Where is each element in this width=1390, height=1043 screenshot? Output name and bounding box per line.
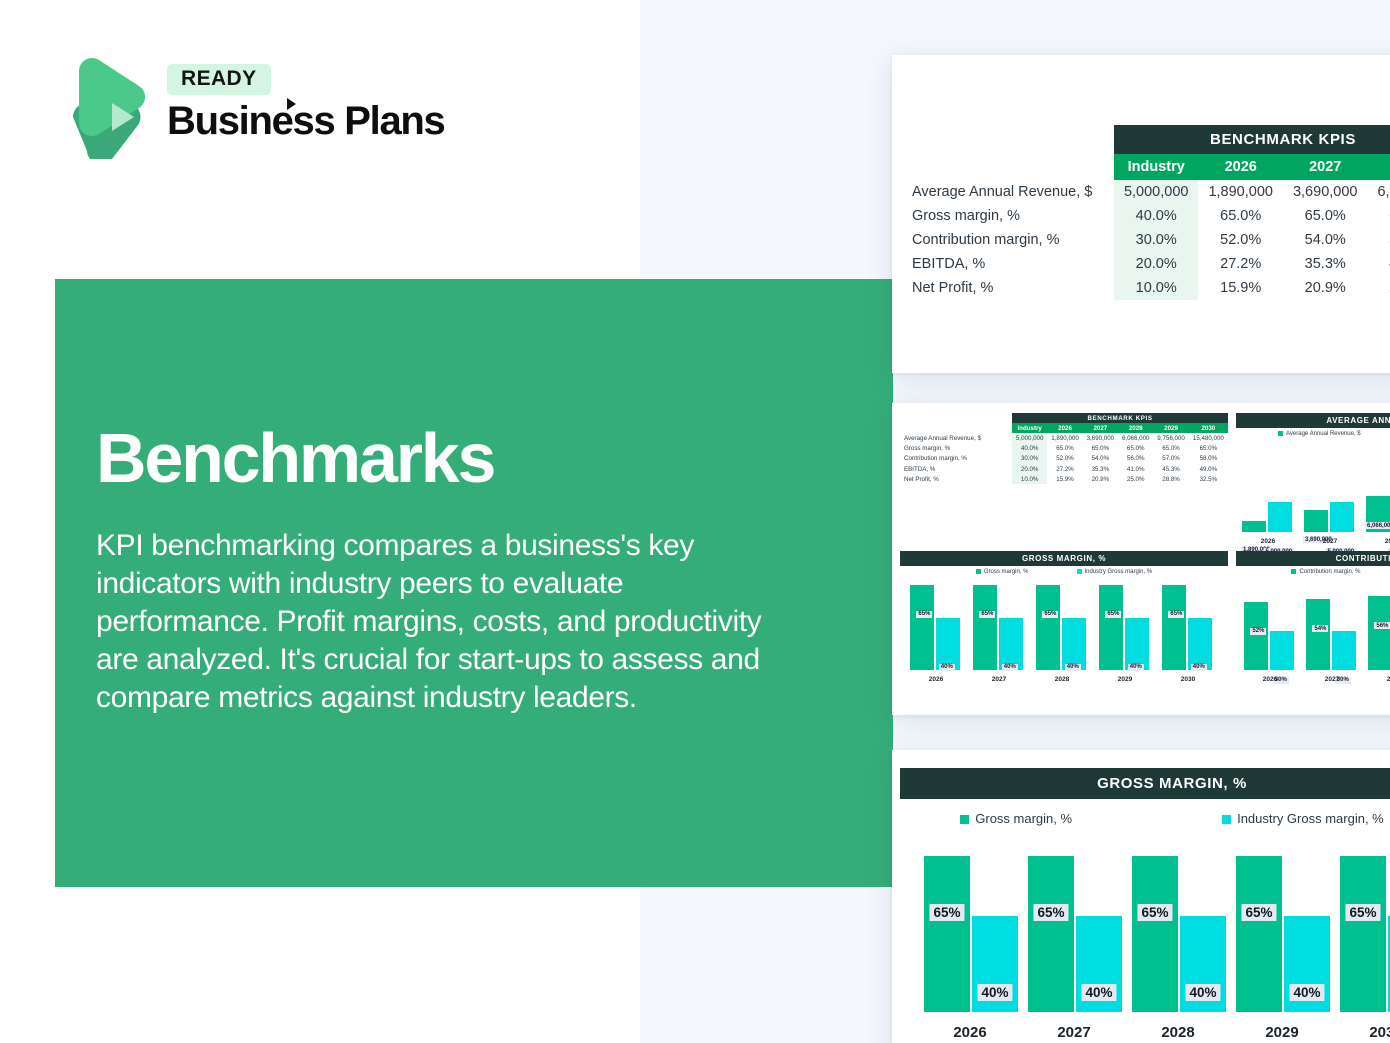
bar-company-2026: 65% <box>910 585 934 670</box>
mini-revenue-legend: Average Annual Revenue, $ Industry Avera… <box>1236 428 1390 438</box>
x-axis-label-2030: 2030 <box>1160 676 1216 683</box>
x-axis-label-2026: 2026 <box>908 676 964 683</box>
bar-value-label: 65% <box>1105 611 1121 618</box>
x-axis-label-2029: 2029 <box>1097 676 1153 683</box>
mini-benchmark-kpis-table: BENCHMARK KPIS Industry20262027202820292… <box>900 413 1228 484</box>
x-axis-label-2028: 2028 <box>1128 1024 1228 1041</box>
column-header-2027: 2027 <box>1083 423 1118 433</box>
bar-company-2028: 56% <box>1368 596 1390 670</box>
gross-margin-plot: 65%40%202665%40%202765%40%202865%40%2029… <box>906 844 1390 1043</box>
row-label: Average Annual Revenue, $ <box>900 180 1114 204</box>
bar-industry-2026: 30% <box>1270 631 1294 670</box>
table-cell: 5,000,000 <box>1114 180 1199 204</box>
table-cell: 65.0% <box>1283 204 1368 228</box>
column-header-industry: Industry <box>1012 423 1047 433</box>
bar-company-2028: 65% <box>1036 585 1060 670</box>
table-cell: 54.0% <box>1083 454 1118 464</box>
chart-group-2027: 65%40%2027 <box>971 578 1027 670</box>
bar-industry-2027: 40% <box>1076 916 1122 1012</box>
table-cell: 27.2% <box>1198 252 1283 276</box>
table-cell: 65.0% <box>1367 204 1390 228</box>
table-cell: 65.0% <box>1118 444 1153 454</box>
chart-group-2028: 6,066,0005,000,0002028 <box>1364 440 1390 532</box>
bar-value-label: 65% <box>929 904 964 921</box>
mini-gross-margin-chart: GROSS MARGIN, % Gross margin, % Industry… <box>900 551 1228 684</box>
mini-table-body: Average Annual Revenue, $5,000,0001,890,… <box>900 433 1228 484</box>
chart-group-2028: 65%40%2028 <box>1034 578 1090 670</box>
mini-header-spacer <box>900 423 1012 433</box>
bar-industry-2027: 40% <box>999 618 1023 671</box>
table-cell: 15.9% <box>1047 474 1082 484</box>
brand-name-text: Business Plans <box>167 99 444 143</box>
legend-entry-industry: Industry Gross margin, % <box>1077 569 1153 575</box>
bar-value-label: 40% <box>1289 984 1324 1001</box>
x-axis-label-2026: 2026 <box>1240 538 1296 545</box>
bar-company-2028: 6,066,000 <box>1366 496 1390 532</box>
bar-value-label: 65% <box>979 611 995 618</box>
table-cell: 1,890,000 <box>1047 433 1082 443</box>
table-cell: 9,756,000 <box>1153 433 1188 443</box>
bar-industry-2026: 5,000,000 <box>1268 502 1292 532</box>
table-cell: 30.0% <box>1114 228 1199 252</box>
table-row: Contribution margin, %30.0%52.0%54.0%56.… <box>900 228 1390 252</box>
bar-company-2027: 65% <box>1028 856 1074 1012</box>
chart-group-2027: 65%40%2027 <box>1024 844 1124 1043</box>
chart-group-2030: 65%40%2030 <box>1160 578 1216 670</box>
bar-industry-2029: 40% <box>1125 618 1149 671</box>
x-axis-label-2030: 2030 <box>1336 1024 1390 1041</box>
table-cell: 56.0% <box>1367 228 1390 252</box>
bar-value-label: 65% <box>1137 904 1172 921</box>
bar-industry-2026: 40% <box>972 916 1018 1012</box>
bar-value-label: 6,066,000 <box>1365 522 1390 529</box>
table-cell: 45.3% <box>1153 464 1188 474</box>
mini-revenue-plot: 1,890,0005,000,00020263,690,0005,000,000… <box>1236 438 1390 546</box>
bar-value-label: 65% <box>916 611 932 618</box>
mini-table-header-row: Industry20262027202820292030 <box>900 423 1228 433</box>
table-row: Average Annual Revenue, $5,000,0001,890,… <box>900 433 1228 443</box>
table-cell: 15,480,000 <box>1189 433 1228 443</box>
brand-name: Business Plans <box>167 100 444 142</box>
table-cell: 40.0% <box>1012 444 1047 454</box>
chart-group-2029: 65%40%2029 <box>1097 578 1153 670</box>
table-cell: 20.0% <box>1012 464 1047 474</box>
table-header-row: Industry202620272028 <box>900 154 1390 180</box>
table-cell: 3,690,000 <box>1283 180 1368 204</box>
legend-entry-company: Average Annual Revenue, $ <box>1278 431 1361 437</box>
table-row: Average Annual Revenue, $5,000,0001,890,… <box>900 180 1390 204</box>
x-axis-label-2027: 2027 <box>1302 538 1358 545</box>
mini-title-spacer <box>900 413 1012 423</box>
table-cell: 57.0% <box>1153 454 1188 464</box>
row-label: Gross margin, % <box>900 444 1012 454</box>
bar-value-label: 40% <box>939 664 955 671</box>
kpi-table-card: BENCHMARK KPIS Industry202620272028 Aver… <box>892 55 1390 373</box>
table-cell: 10.0% <box>1012 474 1047 484</box>
bar-company-2030: 65% <box>1162 585 1186 670</box>
bar-value-label: 40% <box>1185 984 1220 1001</box>
mini-table-title-row: BENCHMARK KPIS <box>900 413 1228 423</box>
bar-industry-2029: 40% <box>1284 916 1330 1012</box>
table-cell: 56.0% <box>1118 454 1153 464</box>
table-row: Gross margin, %40.0%65.0%65.0%65.0% <box>900 204 1390 228</box>
mini-dashboard-card: BENCHMARK KPIS Industry20262027202820292… <box>892 403 1390 715</box>
chart-group-2026: 52%30%2026 <box>1242 578 1298 670</box>
x-axis-label-2028: 2028 <box>1366 676 1390 683</box>
column-header-industry: Industry <box>1114 154 1199 180</box>
header-spacer <box>900 154 1114 180</box>
bar-industry-2027: 5,000,000 <box>1330 502 1354 532</box>
mini-gross-margin-legend: Gross margin, % Industry Gross margin, % <box>900 566 1228 576</box>
hero-panel: Benchmarks KPI benchmarking compares a b… <box>55 279 893 887</box>
small-play-icon <box>287 98 296 110</box>
chart-group-2026: 65%40%2026 <box>908 578 964 670</box>
table-title: BENCHMARK KPIS <box>1114 125 1390 154</box>
bar-company-2028: 65% <box>1132 856 1178 1012</box>
row-label: Contribution margin, % <box>900 454 1012 464</box>
table-cell: 49.0% <box>1189 464 1228 474</box>
x-axis-label-2027: 2027 <box>971 676 1027 683</box>
bar-company-2026: 52% <box>1244 602 1268 670</box>
chart-group-2028: 56%30%2028 <box>1366 578 1390 670</box>
legend-entry-industry: Industry Gross margin, % <box>1222 811 1384 826</box>
chart-group-2029: 65%40%2029 <box>1232 844 1332 1043</box>
x-axis-label-2026: 2026 <box>1242 676 1298 683</box>
table-cell: 20.0% <box>1114 252 1199 276</box>
mini-gross-margin-plot: 65%40%202665%40%202765%40%202865%40%2029… <box>900 576 1228 684</box>
table-cell: 41.0% <box>1118 464 1153 474</box>
column-header-2028: 2028 <box>1118 423 1153 433</box>
table-cell: 41.0% <box>1367 252 1390 276</box>
chart-group-2027: 54%30%2027 <box>1304 578 1360 670</box>
bar-value-label: 65% <box>1168 611 1184 618</box>
table-cell: 1,890,000 <box>1198 180 1283 204</box>
row-label: EBITDA, % <box>900 464 1012 474</box>
table-cell: 27.2% <box>1047 464 1082 474</box>
bar-value-label: 40% <box>977 984 1012 1001</box>
bar-industry-2030: 40% <box>1188 618 1212 671</box>
table-cell: 65.0% <box>1153 444 1188 454</box>
gross-margin-chart-title: GROSS MARGIN, % <box>900 768 1390 799</box>
x-axis-label-2026: 2026 <box>920 1024 1020 1041</box>
bar-company-2030: 65% <box>1340 856 1386 1012</box>
x-axis-label-2028: 2028 <box>1034 676 1090 683</box>
bar-value-label: 56% <box>1374 622 1390 629</box>
row-label: Net Profit, % <box>900 474 1012 484</box>
slide-canvas: READY Business Plans Benchmarks KPI benc… <box>0 0 1390 1043</box>
brand-logo[interactable]: READY Business Plans <box>55 52 455 162</box>
benchmark-kpis-table: BENCHMARK KPIS Industry202620272028 Aver… <box>900 125 1390 300</box>
mini-revenue-chart-title: AVERAGE ANNUAL REVENUE, $ <box>1236 413 1390 428</box>
table-cell: 25.0% <box>1118 474 1153 484</box>
table-cell: 65.0% <box>1189 444 1228 454</box>
bar-value-label: 65% <box>1033 904 1068 921</box>
x-axis-label-2028: 2028 <box>1364 538 1390 545</box>
chart-group-2027: 3,690,0005,000,0002027 <box>1302 440 1358 532</box>
mini-contribution-legend: Contribution margin, % Industry Contribu… <box>1236 566 1390 576</box>
table-cell: 52.0% <box>1047 454 1082 464</box>
table-row: Net Profit, %10.0%15.9%20.9%25.0% <box>900 276 1390 300</box>
chart-group-2028: 65%40%2028 <box>1128 844 1228 1043</box>
table-cell: 35.3% <box>1083 464 1118 474</box>
table-cell: 65.0% <box>1083 444 1118 454</box>
gross-margin-legend: Gross margin, % Industry Gross margin, % <box>892 799 1390 826</box>
bar-industry-2027: 30% <box>1332 631 1356 670</box>
x-axis-label-2029: 2029 <box>1232 1024 1332 1041</box>
table-cell: 40.0% <box>1114 204 1199 228</box>
x-axis-label-2027: 2027 <box>1024 1024 1124 1041</box>
table-cell: 65.0% <box>1198 204 1283 228</box>
bar-value-label: 52% <box>1250 628 1266 635</box>
row-label: Gross margin, % <box>900 204 1114 228</box>
row-label: EBITDA, % <box>900 252 1114 276</box>
table-cell: 28.8% <box>1153 474 1188 484</box>
table-cell: 52.0% <box>1198 228 1283 252</box>
table-cell: 5,000,000 <box>1012 433 1047 443</box>
hero-description: KPI benchmarking compares a business's k… <box>96 527 766 717</box>
bar-value-label: 54% <box>1312 625 1328 632</box>
table-row: EBITDA, %20.0%27.2%35.3%41.0% <box>900 252 1390 276</box>
mini-contribution-margin-chart: CONTRIBUTION MARGIN, % Contribution marg… <box>1236 551 1390 684</box>
mini-contribution-title: CONTRIBUTION MARGIN, % <box>1236 551 1390 566</box>
bar-company-2027: 54% <box>1306 599 1330 670</box>
chart-group-2026: 65%40%2026 <box>920 844 1020 1043</box>
table-cell: 35.3% <box>1283 252 1368 276</box>
table-cell: 54.0% <box>1283 228 1368 252</box>
table-cell: 20.9% <box>1083 474 1118 484</box>
bar-value-label: 40% <box>1081 984 1116 1001</box>
bar-value-label: 40% <box>1002 664 1018 671</box>
bar-company-2027: 65% <box>973 585 997 670</box>
play-triangle-logo-icon <box>55 55 151 159</box>
bar-industry-2028: 40% <box>1180 916 1226 1012</box>
table-row: Contribution margin, %30.0%52.0%54.0%56.… <box>900 454 1228 464</box>
table-cell: 20.9% <box>1283 276 1368 300</box>
bar-industry-2028: 40% <box>1062 618 1086 671</box>
legend-entry-company: Gross margin, % <box>976 569 1029 575</box>
legend-entry-company: Contribution margin, % <box>1291 569 1360 575</box>
column-header-2027: 2027 <box>1283 154 1368 180</box>
chart-group-2026: 1,890,0005,000,0002026 <box>1240 440 1296 532</box>
column-header-2030: 2030 <box>1189 423 1228 433</box>
page-title: Benchmarks <box>96 423 494 493</box>
bar-value-label: 65% <box>1042 611 1058 618</box>
table-row: Net Profit, %10.0%15.9%20.9%25.0%28.8%32… <box>900 474 1228 484</box>
bar-company-2027: 3,690,000 <box>1304 510 1328 532</box>
bar-value-label: 40% <box>1128 664 1144 671</box>
bar-company-2029: 65% <box>1236 856 1282 1012</box>
table-row: Gross margin, %40.0%65.0%65.0%65.0%65.0%… <box>900 444 1228 454</box>
column-header-2026: 2026 <box>1198 154 1283 180</box>
x-axis-label-2027: 2027 <box>1304 676 1360 683</box>
bar-company-2026: 1,890,000 <box>1242 521 1266 532</box>
table-cell: 25.0% <box>1367 276 1390 300</box>
table-cell: 6,066,000 <box>1118 433 1153 443</box>
column-header-2026: 2026 <box>1047 423 1082 433</box>
bar-value-label: 65% <box>1345 904 1380 921</box>
table-cell: 10.0% <box>1114 276 1199 300</box>
mini-revenue-chart: AVERAGE ANNUAL REVENUE, $ Average Annual… <box>1236 413 1390 546</box>
mini-table-title: BENCHMARK KPIS <box>1012 413 1228 423</box>
mini-gross-margin-title: GROSS MARGIN, % <box>900 551 1228 566</box>
table-cell: 15.9% <box>1198 276 1283 300</box>
bar-value-label: 40% <box>1191 664 1207 671</box>
table-cell: 30.0% <box>1012 454 1047 464</box>
table-title-row: BENCHMARK KPIS <box>900 125 1390 154</box>
column-header-2028: 2028 <box>1367 154 1390 180</box>
table-cell: 3,690,000 <box>1083 433 1118 443</box>
table-title-spacer <box>900 125 1114 154</box>
table-cell: 6,066,000 <box>1367 180 1390 204</box>
row-label: Average Annual Revenue, $ <box>900 433 1012 443</box>
brand-wordmark: READY Business Plans <box>167 64 444 142</box>
legend-entry-company: Gross margin, % <box>960 811 1072 826</box>
row-label: Net Profit, % <box>900 276 1114 300</box>
table-body: Average Annual Revenue, $5,000,0001,890,… <box>900 180 1390 300</box>
column-header-2029: 2029 <box>1153 423 1188 433</box>
bar-value-label: 40% <box>1065 664 1081 671</box>
bar-company-2026: 65% <box>924 856 970 1012</box>
ready-badge: READY <box>167 64 271 95</box>
mini-contribution-plot: 52%30%202654%30%202756%30%202857%30%2029… <box>1236 576 1390 684</box>
table-row: EBITDA, %20.0%27.2%35.3%41.0%45.3%49.0% <box>900 464 1228 474</box>
bar-industry-2026: 40% <box>936 618 960 671</box>
bar-company-2029: 65% <box>1099 585 1123 670</box>
table-cell: 65.0% <box>1047 444 1082 454</box>
bar-value-label: 65% <box>1241 904 1276 921</box>
gross-margin-chart-card: GROSS MARGIN, % Gross margin, % Industry… <box>892 750 1390 1043</box>
table-cell: 58.0% <box>1189 454 1228 464</box>
table-cell: 32.5% <box>1189 474 1228 484</box>
row-label: Contribution margin, % <box>900 228 1114 252</box>
chart-group-2030: 65%40%2030 <box>1336 844 1390 1043</box>
